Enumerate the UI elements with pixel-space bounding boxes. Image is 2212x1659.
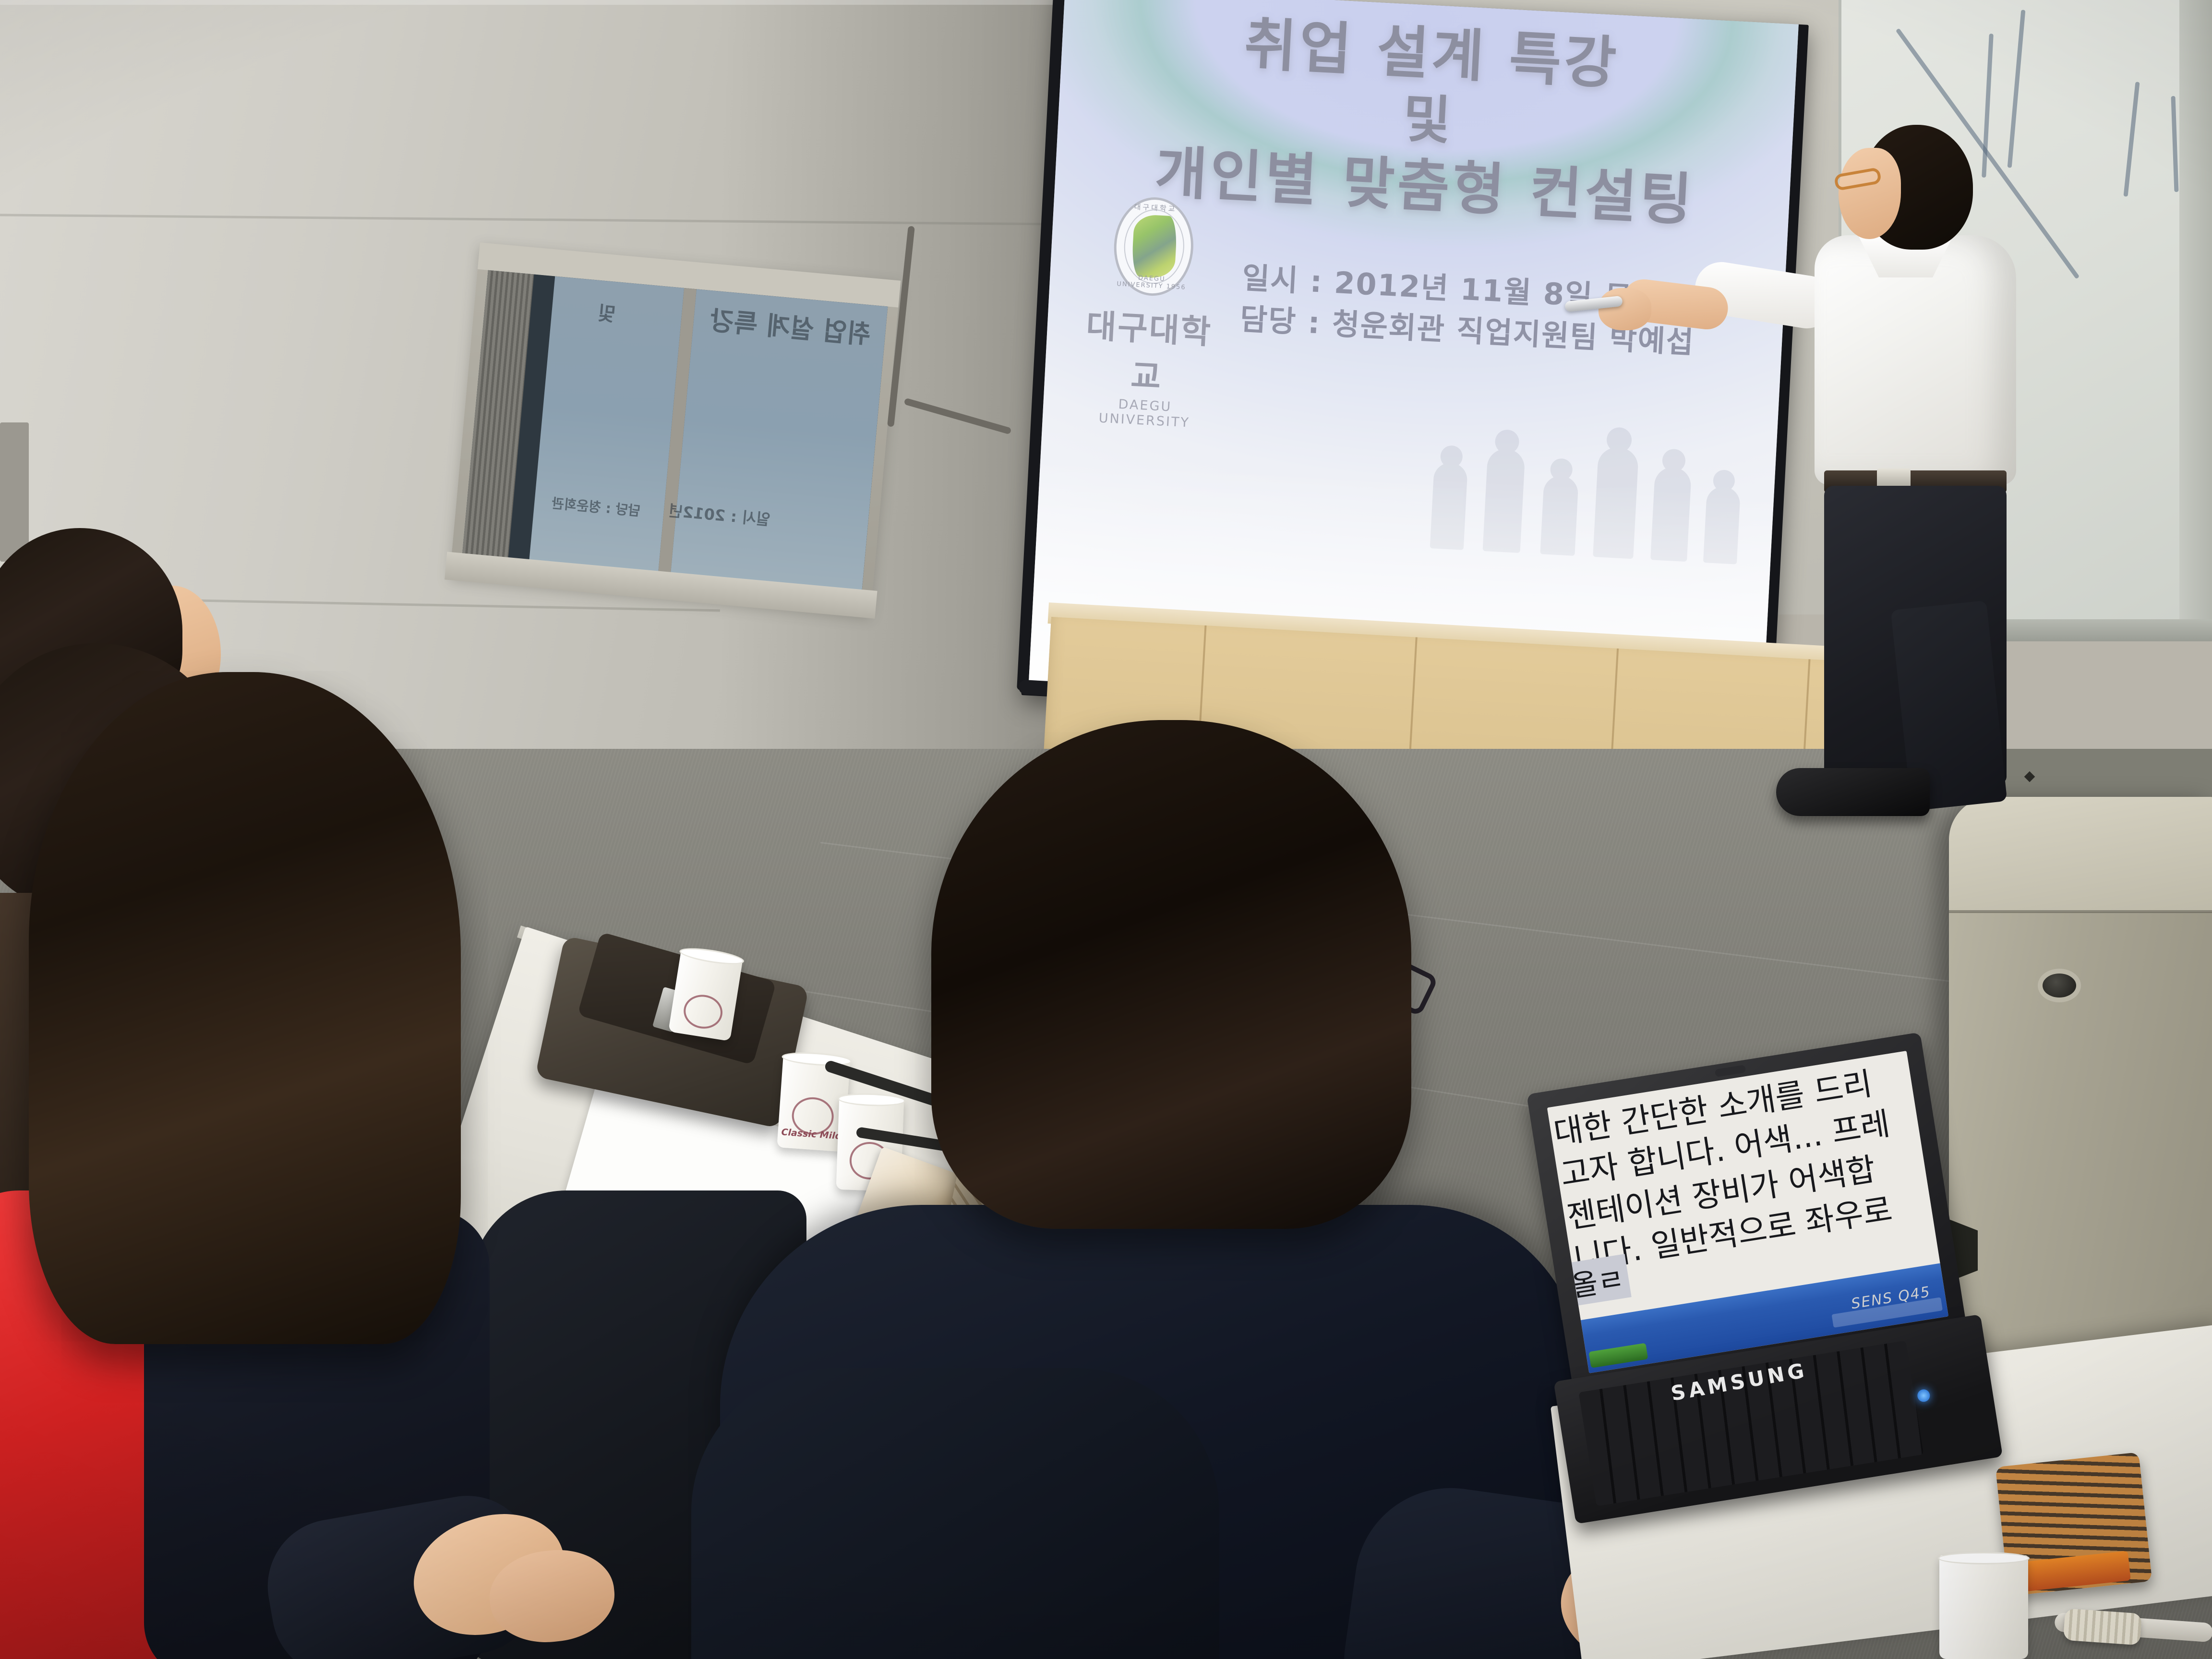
cup-brand-text: Classic Mild xyxy=(778,1127,845,1142)
paper-cup-4 xyxy=(1939,1555,2028,1659)
cabinet-lid[interactable] xyxy=(1949,797,2212,912)
cabinet-seam xyxy=(1949,910,2212,913)
presenter-face xyxy=(1839,148,1901,239)
attendee-red-sweater xyxy=(0,672,576,1659)
crest-korean-text: 대구대학교 xyxy=(1118,201,1193,215)
crest-english-text: DAEGU UNIVERSITY 1956 xyxy=(1114,273,1189,291)
university-logo: 대구대학교 DAEGU UNIVERSITY 1956 대구대학교 DAEGU … xyxy=(1072,193,1228,432)
pegboard-hole xyxy=(2024,771,2035,782)
wall-top-seam xyxy=(0,0,1063,5)
presenter-shoe xyxy=(1776,768,1930,816)
laptop-webcam-icon xyxy=(1715,1065,1746,1077)
samsung-laptop[interactable]: 대한 간단한 소개를 드리 고자 합니다. 어색... 프레 젠테이션 장비가 … xyxy=(1527,1023,2044,1521)
typist-shoulder xyxy=(691,1368,1219,1659)
cup-logo xyxy=(681,992,725,1031)
presenter xyxy=(1805,125,2074,682)
seminar-room-photo: 취업 설계 특강 및 개인별 맞춤형 컨설팅 대구대학교 DAEGU UNIVE… xyxy=(0,0,2212,1659)
start-button[interactable] xyxy=(1588,1343,1648,1368)
logo-english-name: DAEGU UNIVERSITY xyxy=(1072,395,1217,432)
laptop-screen[interactable]: 대한 간단한 소개를 드리 고자 합니다. 어색... 프레 젠테이션 장비가 … xyxy=(1547,1051,1948,1373)
whiteboard-mark-4 xyxy=(2171,96,2179,192)
window-glass: 취업 설계 특강 및 일시 : 2012년 담당 : 청운회관 xyxy=(462,270,888,593)
paper-cup-1 xyxy=(668,949,743,1041)
window-reflection-sub: 및 xyxy=(597,298,617,327)
cable-ferrite-bead xyxy=(2063,1608,2142,1645)
window-frame: 취업 설계 특강 및 일시 : 2012년 담당 : 청운회관 xyxy=(450,242,901,615)
attendee-laptop-typist xyxy=(845,720,1613,1659)
logo-korean-name: 대구대학교 xyxy=(1074,299,1223,401)
crest-leaf-emblem xyxy=(1131,214,1178,279)
presenter-hand xyxy=(1599,288,1651,330)
typist-hair xyxy=(931,720,1411,1229)
attendee-long-brown-hair xyxy=(29,672,461,1344)
whiteboard-right-frame xyxy=(2179,0,2212,638)
cabinet-lock-icon[interactable] xyxy=(2043,974,2076,998)
whiteboard-mark-3 xyxy=(2123,82,2140,197)
university-crest-icon: 대구대학교 DAEGU UNIVERSITY 1956 xyxy=(1111,195,1196,298)
